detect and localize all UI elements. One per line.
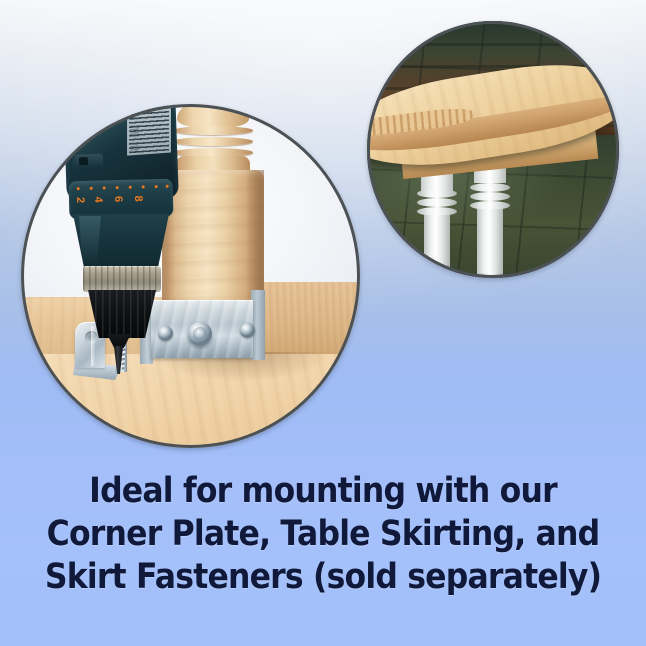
leg-turning-ring [470, 183, 510, 192]
right-scene [367, 21, 619, 278]
main-scene: 8 6 4 2 [21, 104, 360, 448]
drill-clutch-number: 2 [74, 197, 86, 203]
drill-clutch-dot [142, 185, 145, 188]
drill-installing-corner-plate-photo: 8 6 4 2 [21, 104, 360, 448]
drill-clutch-number: 6 [112, 196, 124, 202]
drill-clutch-dot [77, 187, 80, 190]
leg-finial [177, 104, 249, 128]
leg-bead-ring [173, 137, 253, 146]
corner-plate-hanger-bolt [188, 322, 212, 346]
leg-shadow [141, 352, 341, 392]
caption-line-2: Corner Plate, Table Skirting, and [32, 513, 613, 556]
drill-clutch-dot [129, 186, 132, 189]
drill-clutch-number: 4 [92, 196, 104, 202]
caption-block: Ideal for mounting with our Corner Plate… [0, 470, 646, 599]
drill-direction-switch [75, 154, 103, 169]
drill-clutch-dot [90, 187, 93, 190]
leg-turning-ring [417, 189, 457, 198]
drill-clutch-dot [103, 186, 106, 189]
leg-taper [477, 209, 503, 275]
leg-turning-ring [417, 198, 457, 207]
leg-taper [424, 215, 450, 267]
drill-metal-chuck-sleeve [83, 266, 161, 292]
leg-foot [425, 265, 449, 278]
caption-line-3: Skirt Fasteners (sold separately) [32, 556, 613, 599]
drill-clutch-collar: 8 6 4 2 [69, 179, 174, 220]
drill-clutch-dots [69, 185, 173, 193]
finished-table-photo [367, 21, 619, 278]
drill-clutch-dot [116, 186, 119, 189]
drill-clutch-dot [166, 185, 169, 188]
product-marketing-image: 8 6 4 2 [0, 0, 646, 646]
corner-plate-screw-right [240, 323, 255, 338]
drill-spec-label [127, 104, 171, 156]
drill-chuck-body [88, 290, 156, 338]
caption-line-1: Ideal for mounting with our [32, 470, 613, 513]
drill-clutch-dot [155, 185, 158, 188]
leg-turning-ring [470, 192, 510, 201]
cordless-drill: 8 6 4 2 [51, 104, 181, 336]
leg-foot [478, 273, 502, 278]
drill-label-sidebar [130, 105, 139, 154]
leg-bead-ring [173, 126, 253, 135]
drill-clutch-number: 8 [132, 195, 144, 201]
